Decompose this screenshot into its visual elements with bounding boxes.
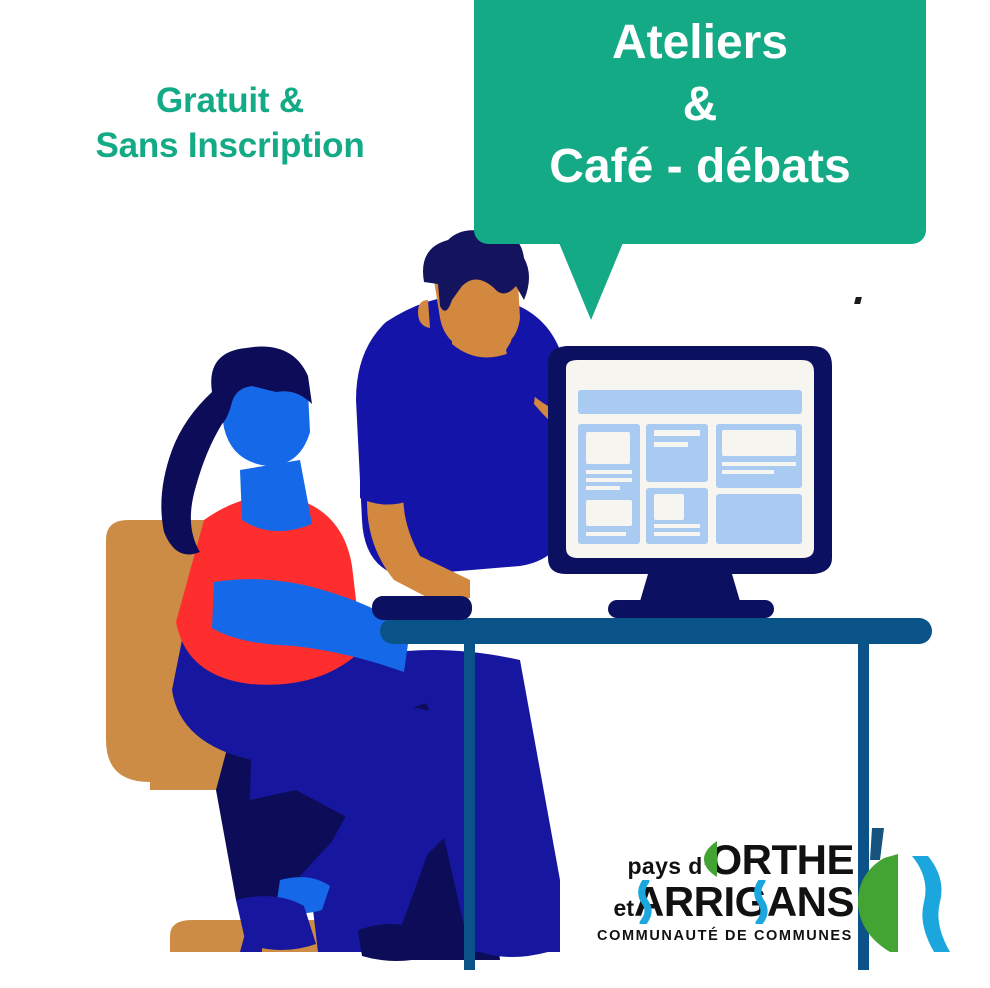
logo-tagline: COMMUNAUTÉ DE COMMUNES (596, 928, 854, 944)
logo-river-stroke-a1-icon (636, 880, 656, 924)
headline-free-no-registration: Gratuit & Sans Inscription (0, 78, 460, 168)
bubble-line-3: Café - débats (474, 136, 926, 198)
logo-wordmark: pays d’ORTHE etARRIGANS COMMUNAUTÉ DE CO… (596, 832, 854, 950)
poster-canvas: Gratuit & Sans Inscription Ateliers & Ca… (0, 0, 990, 988)
leaf-and-river-emblem-icon (854, 826, 958, 958)
logo-pays-prefix: pays d’ (627, 853, 709, 879)
bubble-line-1: Ateliers (474, 12, 926, 74)
headline-line-2: Sans Inscription (0, 123, 460, 168)
bubble-line-2: & (474, 74, 926, 136)
logo-et-prefix: et (614, 895, 634, 921)
logo-arrigans-word: ARRIGANS (634, 878, 854, 925)
logo-line-arrigans: etARRIGANS (596, 878, 854, 926)
headline-line-1: Gratuit & (0, 78, 460, 123)
speech-bubble-tail (557, 238, 625, 320)
logo-orthe-word: ORTHE (710, 836, 855, 883)
logo-line-orthe: pays d’ORTHE (596, 836, 854, 884)
logo-leaf-in-o-icon (702, 840, 724, 878)
keyboard (372, 596, 472, 620)
desktop-monitor (548, 346, 832, 618)
logo-river-stroke-a2-icon (752, 880, 772, 924)
logo-pays-dorthe-et-arrigans: pays d’ORTHE etARRIGANS COMMUNAUTÉ DE CO… (596, 832, 956, 964)
speech-bubble-workshops: Ateliers & Café - débats (474, 0, 926, 244)
